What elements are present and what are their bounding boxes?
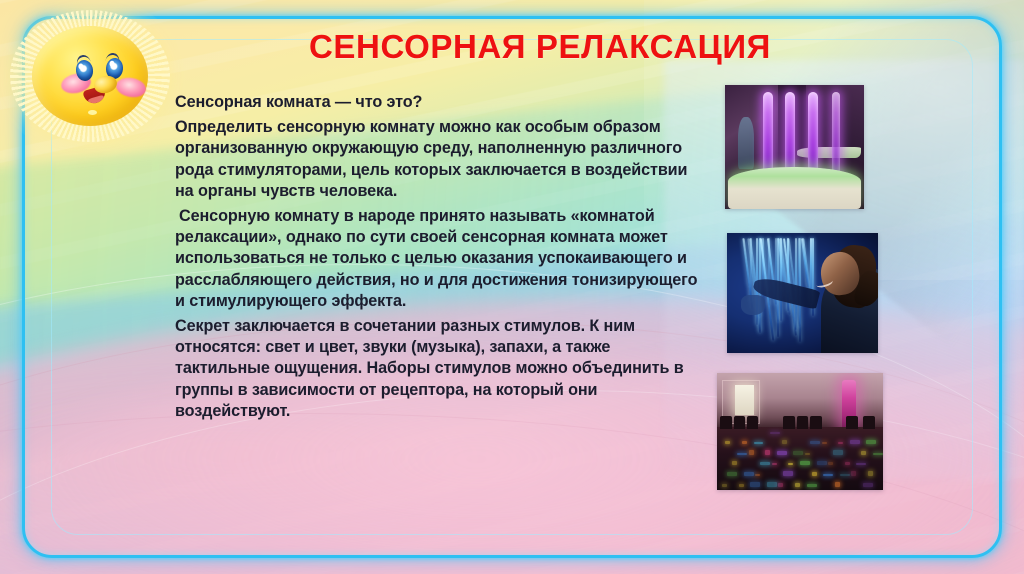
- paragraph-heading: Сенсорная комната — что это?: [175, 92, 705, 113]
- photo3-floor-light: [725, 441, 730, 445]
- photo3-floor-light: [755, 474, 760, 476]
- paragraph-definition: Определить сенсорную комнату можно как о…: [175, 117, 705, 202]
- photo3-floor-light: [840, 474, 850, 476]
- photo3-floor-light: [866, 440, 876, 445]
- photo3-lit-window: [735, 385, 753, 415]
- photo3-floor-light: [812, 472, 817, 476]
- photo3-floor-light: [783, 471, 793, 476]
- photo3-floor-light: [845, 462, 850, 466]
- photo3-floor-light: [863, 483, 873, 487]
- photo3-floor-light: [782, 440, 787, 445]
- photo1-green-ledge: [797, 147, 861, 158]
- photo3-floor-light: [749, 450, 754, 455]
- paragraph-relaxation-room: Сенсорную комнату в народе принято назыв…: [175, 206, 705, 312]
- photo3-floor-light: [744, 472, 754, 476]
- photo3-floor-light: [793, 451, 803, 455]
- photo3-floor-light: [722, 484, 727, 486]
- sun-cheek-right: [115, 76, 148, 100]
- photo-girl-fiber-optic-strands: [727, 233, 878, 353]
- sun-chin-highlight: [88, 110, 97, 115]
- photo1-lit-platform: [728, 167, 861, 209]
- photo3-floor-light: [833, 450, 843, 455]
- photo3-floor-light: [823, 474, 833, 476]
- photo3-floor-light: [800, 461, 810, 466]
- photo-bubble-tube-sensory-room: [725, 85, 864, 209]
- sun-face: [32, 26, 148, 126]
- photo3-floor-light: [739, 484, 744, 486]
- photo3-floor-light: [835, 482, 840, 487]
- photo3-floor-light: [873, 453, 883, 455]
- photo3-floor-light: [765, 450, 770, 455]
- photo3-floor-light: [817, 461, 827, 466]
- photo3-chair: [747, 416, 759, 429]
- photo3-floor-light: [767, 482, 777, 487]
- photo3-chair: [783, 416, 795, 429]
- photo3-floor-light: [805, 453, 810, 455]
- photo3-floor-light: [850, 440, 860, 445]
- photo-illuminated-sensory-floor-hall: [717, 373, 883, 490]
- photo3-floor-light: [807, 484, 817, 486]
- photo3-chair: [846, 416, 858, 429]
- photo3-floor-light: [750, 482, 760, 487]
- photo3-chair: [863, 416, 875, 429]
- photo3-floor-light: [868, 471, 873, 476]
- page-title: СЕНСОРНАЯ РЕЛАКСАЦИЯ: [190, 28, 890, 66]
- photo3-floor-light: [760, 462, 770, 466]
- photo1-person-reflection: [738, 117, 755, 169]
- photo3-floor-light: [727, 472, 737, 476]
- paragraph-stimuli: Секрет заключается в сочетании разных ст…: [175, 316, 705, 422]
- photo3-floor-light: [732, 461, 737, 466]
- photo3-floor-light: [777, 451, 787, 455]
- photo3-floor-light: [778, 483, 783, 487]
- photo3-dark-floor: [717, 427, 883, 490]
- photo3-floor-light: [851, 471, 856, 476]
- photo3-chair: [734, 416, 746, 429]
- photo3-floor-light: [770, 432, 780, 434]
- photo3-chair: [720, 416, 732, 429]
- photo3-chair: [797, 416, 809, 429]
- photo3-floor-light: [861, 451, 866, 455]
- photo3-floor-light: [742, 441, 747, 445]
- photo2-girl-hand: [741, 295, 765, 314]
- photo3-floor-light: [810, 441, 820, 445]
- photo3-chair: [810, 416, 822, 429]
- presentation-slide: СЕНСОРНАЯ РЕЛАКСАЦИЯ Сенсорная комната —…: [0, 0, 1024, 574]
- sun-icon: [6, 6, 174, 146]
- photo3-floor-light: [737, 453, 747, 455]
- photo3-floor-light: [795, 483, 800, 487]
- slide-body-text: Сенсорная комната — что это? Определить …: [175, 92, 705, 426]
